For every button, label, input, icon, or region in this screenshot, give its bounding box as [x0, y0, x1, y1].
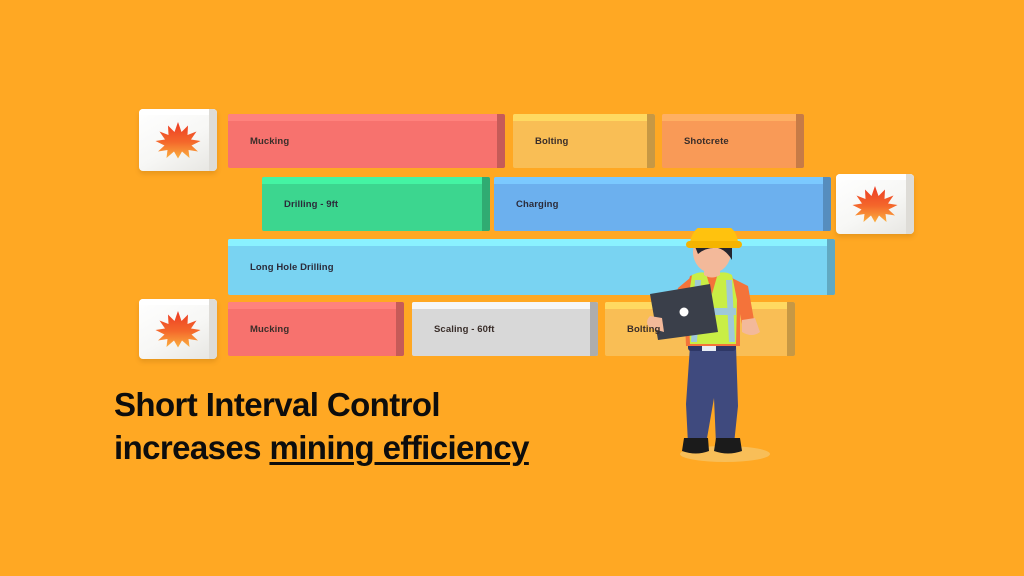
gantt-bar-label: Drilling - 9ft	[262, 199, 338, 210]
bar-side-bevel	[590, 302, 598, 356]
headline-plain-text: increases	[114, 429, 269, 466]
gantt-bar-label: Bolting	[513, 136, 568, 147]
gantt-bar-label: Shotcrete	[662, 136, 729, 147]
bar-top-bevel	[494, 177, 831, 184]
bar-side-bevel	[647, 114, 655, 168]
gantt-bar-label: Charging	[494, 199, 559, 210]
card-top-bevel	[139, 109, 217, 115]
gantt-bar-scaling-row4[interactable]: Scaling - 60ft	[412, 302, 598, 356]
laptop-logo	[680, 308, 689, 317]
headline-line-2: increases mining efficiency	[114, 426, 714, 469]
explosion-icon	[154, 309, 202, 349]
gantt-bar-label: Long Hole Drilling	[228, 262, 334, 273]
bar-side-bevel	[396, 302, 404, 356]
gantt-bar-mucking-row4[interactable]: Mucking	[228, 302, 404, 356]
gantt-bar-label: Mucking	[228, 136, 289, 147]
blast-icon-card-row4	[139, 299, 217, 359]
blast-icon-card-row1	[139, 109, 217, 171]
card-top-bevel	[139, 299, 217, 305]
gantt-bar-bolting-row1[interactable]: Bolting	[513, 114, 655, 168]
headline-emphasis-text: mining efficiency	[269, 429, 528, 466]
arm-right-skin	[742, 318, 760, 335]
bar-top-bevel	[228, 302, 404, 309]
bar-top-bevel	[513, 114, 655, 121]
bar-side-bevel	[827, 239, 835, 295]
bar-side-bevel	[796, 114, 804, 168]
bar-top-bevel	[228, 114, 505, 121]
bar-side-bevel	[482, 177, 490, 231]
bar-side-bevel	[497, 114, 505, 168]
card-side-bevel	[906, 174, 914, 234]
bar-top-bevel	[412, 302, 598, 309]
bar-top-bevel	[662, 114, 804, 121]
gantt-bar-mucking-row1[interactable]: Mucking	[228, 114, 505, 168]
card-side-bevel	[209, 299, 217, 359]
bar-top-bevel	[262, 177, 490, 184]
gantt-bar-label: Mucking	[228, 324, 289, 335]
explosion-icon	[851, 184, 899, 224]
page-title: Short Interval Control increases mining …	[114, 383, 714, 469]
gantt-bar-shotcrete-row1[interactable]: Shotcrete	[662, 114, 804, 168]
gantt-bar-charging-row2[interactable]: Charging	[494, 177, 831, 231]
bar-side-bevel	[823, 177, 831, 231]
gantt-bar-label: Scaling - 60ft	[412, 324, 495, 335]
headline-line-1: Short Interval Control	[114, 383, 714, 426]
slide-canvas: Mucking Bolting Shotcrete Drilling - 9ft…	[0, 0, 1024, 576]
gantt-bar-drilling-row2[interactable]: Drilling - 9ft	[262, 177, 490, 231]
hard-hat-brim	[686, 241, 742, 248]
card-top-bevel	[836, 174, 914, 180]
gantt-bar-label: Bolting	[605, 324, 660, 335]
explosion-icon	[154, 120, 202, 160]
card-side-bevel	[209, 109, 217, 171]
shoe-right	[714, 438, 742, 454]
blast-icon-card-row2	[836, 174, 914, 234]
